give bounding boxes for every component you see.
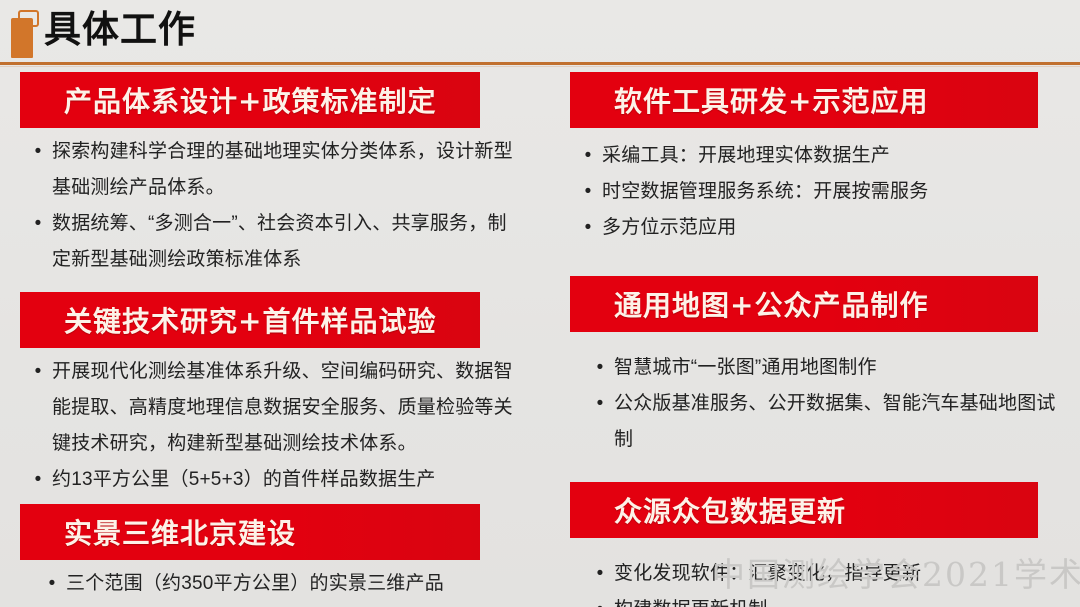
section-bullet-list: • 开展现代化测绘基准体系升级、空间编码研究、数据智能提取、高精度地理信息数据安… (10, 354, 520, 498)
section-block-3d-beijing: 实景三维北京建设 • 三个范围（约350平方公里）的实景三维产品 • 全市重要二… (10, 504, 520, 607)
section-banner-label: 通用地图+公众产品制作 (570, 284, 928, 324)
page-title: 具体工作 (44, 6, 196, 54)
bullet-dot-icon: • (24, 462, 52, 498)
list-item-text: 构建数据更新机制 (614, 592, 1070, 607)
list-item: • 约13平方公里（5+5+3）的首件样品数据生产 (24, 462, 520, 498)
list-item-text: 多方位示范应用 (602, 210, 1070, 246)
list-item: • 多方位示范应用 (574, 210, 1070, 246)
list-item-text: 变化发现软件：汇聚变化，指导更新 (614, 556, 1070, 592)
section-bullet-list: • 三个范围（约350平方公里）的实景三维产品 • 全市重要二维地理实体数据；房… (10, 566, 520, 607)
list-item-text: 探索构建科学合理的基础地理实体分类体系，设计新型基础测绘产品体系。 (52, 134, 520, 206)
section-block-product-system: 产品体系设计+政策标准制定 • 探索构建科学合理的基础地理实体分类体系，设计新型… (10, 72, 520, 278)
section-block-key-technology: 关键技术研究+首件样品试验 • 开展现代化测绘基准体系升级、空间编码研究、数据智… (10, 292, 520, 498)
list-item-text: 约13平方公里（5+5+3）的首件样品数据生产 (52, 462, 520, 498)
list-item-text: 数据统筹、“多测合一”、社会资本引入、共享服务，制定新型基础测绘政策标准体系 (52, 206, 520, 278)
section-bullet-list: • 智慧城市“一张图”通用地图制作 • 公众版基准服务、公开数据集、智能汽车基础… (560, 350, 1070, 458)
section-banner: 关键技术研究+首件样品试验 (20, 292, 480, 348)
bookmark-flag-icon (8, 10, 34, 58)
section-bullet-list: • 采编工具：开展地理实体数据生产 • 时空数据管理服务系统：开展按需服务 • … (560, 138, 1070, 246)
bullet-dot-icon: • (38, 566, 66, 602)
section-banner: 产品体系设计+政策标准制定 (20, 72, 480, 128)
slide-root: 具体工作 产品体系设计+政策标准制定 • 探索构建科学合理的基础地理实体分类体系… (0, 0, 1080, 607)
list-item-text: 三个范围（约350平方公里）的实景三维产品 (66, 566, 520, 602)
list-item: • 采编工具：开展地理实体数据生产 (574, 138, 1070, 174)
section-block-general-map: 通用地图+公众产品制作 • 智慧城市“一张图”通用地图制作 • 公众版基准服务、… (560, 276, 1070, 458)
section-banner-label: 关键技术研究+首件样品试验 (20, 300, 436, 340)
list-item: • 开展现代化测绘基准体系升级、空间编码研究、数据智能提取、高精度地理信息数据安… (24, 354, 520, 462)
list-item: • 三个范围（约350平方公里）的实景三维产品 (38, 566, 520, 602)
bullet-dot-icon: • (24, 354, 52, 390)
list-item-text: 时空数据管理服务系统：开展按需服务 (602, 174, 1070, 210)
list-item-text: 智慧城市“一张图”通用地图制作 (614, 350, 1070, 386)
section-bullet-list: • 变化发现软件：汇聚变化，指导更新 • 构建数据更新机制 (560, 556, 1070, 607)
list-item: • 时空数据管理服务系统：开展按需服务 (574, 174, 1070, 210)
header-divider (0, 62, 1080, 65)
bullet-dot-icon: • (24, 134, 52, 170)
section-banner: 实景三维北京建设 (20, 504, 480, 560)
bullet-dot-icon: • (586, 592, 614, 607)
list-item-text: 全市重要二维地理实体数据；房屋、道路线框式白膜；全市DOM、DEM数据 (66, 602, 520, 607)
section-banner-label: 实景三维北京建设 (20, 512, 296, 552)
list-item: • 智慧城市“一张图”通用地图制作 (586, 350, 1070, 386)
list-item: • 公众版基准服务、公开数据集、智能汽车基础地图试制 (586, 386, 1070, 458)
bullet-dot-icon: • (574, 138, 602, 174)
section-bullet-list: • 探索构建科学合理的基础地理实体分类体系，设计新型基础测绘产品体系。 • 数据… (10, 134, 520, 278)
list-item-text: 采编工具：开展地理实体数据生产 (602, 138, 1070, 174)
bullet-dot-icon: • (586, 386, 614, 422)
bullet-dot-icon: • (586, 350, 614, 386)
list-item: • 构建数据更新机制 (586, 592, 1070, 607)
section-banner-label: 软件工具研发+示范应用 (570, 80, 928, 120)
section-banner: 通用地图+公众产品制作 (570, 276, 1038, 332)
section-banner-label: 众源众包数据更新 (570, 490, 846, 530)
bullet-dot-icon: • (586, 556, 614, 592)
bullet-dot-icon: • (574, 174, 602, 210)
right-column: 软件工具研发+示范应用 • 采编工具：开展地理实体数据生产 • 时空数据管理服务… (560, 72, 1070, 607)
list-item: • 全市重要二维地理实体数据；房屋、道路线框式白膜；全市DOM、DEM数据 (38, 602, 520, 607)
list-item: • 变化发现软件：汇聚变化，指导更新 (586, 556, 1070, 592)
bullet-dot-icon: • (24, 206, 52, 242)
section-banner: 众源众包数据更新 (570, 482, 1038, 538)
section-banner: 软件工具研发+示范应用 (570, 72, 1038, 128)
list-item-text: 开展现代化测绘基准体系升级、空间编码研究、数据智能提取、高精度地理信息数据安全服… (52, 354, 520, 462)
section-block-software-tools: 软件工具研发+示范应用 • 采编工具：开展地理实体数据生产 • 时空数据管理服务… (560, 72, 1070, 246)
header-divider-secondary (0, 66, 1080, 67)
section-banner-label: 产品体系设计+政策标准制定 (20, 80, 436, 120)
section-block-crowdsource-update: 众源众包数据更新 • 变化发现软件：汇聚变化，指导更新 • 构建数据更新机制 (560, 482, 1070, 607)
bullet-dot-icon: • (574, 210, 602, 246)
list-item: • 探索构建科学合理的基础地理实体分类体系，设计新型基础测绘产品体系。 (24, 134, 520, 206)
left-column: 产品体系设计+政策标准制定 • 探索构建科学合理的基础地理实体分类体系，设计新型… (10, 72, 520, 607)
list-item: • 数据统筹、“多测合一”、社会资本引入、共享服务，制定新型基础测绘政策标准体系 (24, 206, 520, 278)
list-item-text: 公众版基准服务、公开数据集、智能汽车基础地图试制 (614, 386, 1070, 458)
bullet-dot-icon: • (38, 602, 66, 607)
bookmark-flag-icon-bubble (18, 10, 39, 27)
slide-header: 具体工作 (0, 0, 1080, 63)
